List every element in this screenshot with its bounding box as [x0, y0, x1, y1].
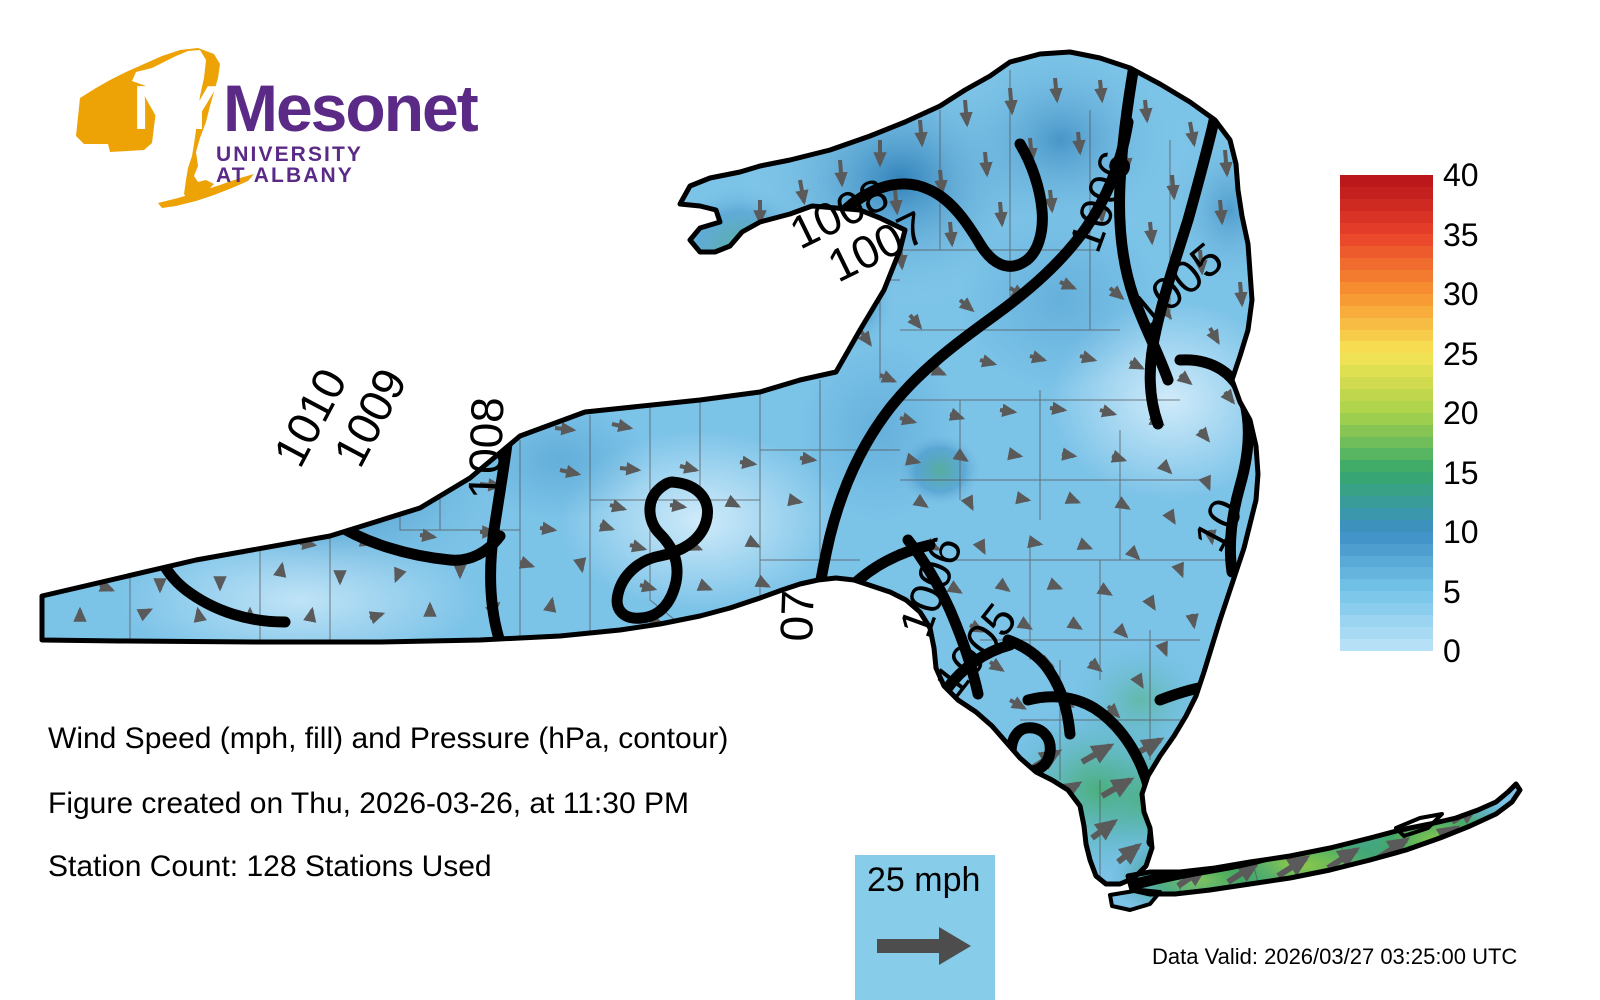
data-valid-timestamp: Data Valid: 2026/03/27 03:25:00 UTC — [1152, 944, 1517, 970]
colorbar-gradient — [1340, 175, 1433, 651]
colorbar-tick-15: 15 — [1443, 457, 1479, 489]
wind-reference-arrow-icon — [875, 923, 975, 969]
colorbar-tick-5: 5 — [1443, 576, 1461, 608]
map-title-caption: Wind Speed (mph, fill) and Pressure (hPa… — [48, 722, 728, 756]
colorbar-tick-40: 40 — [1443, 159, 1479, 191]
nys-mesonet-logo: NYS Mesonet UNIVERSITY AT ALBANY — [48, 48, 398, 223]
contour-label-1008a: 1008 — [458, 396, 514, 500]
station-count-caption: Station Count: 128 Stations Used — [48, 850, 492, 884]
colorbar-tick-10: 10 — [1443, 516, 1479, 548]
colorbar-tick-30: 30 — [1443, 278, 1479, 310]
colorbar-tick-35: 35 — [1443, 219, 1479, 251]
logo-mesonet-text: Mesonet — [223, 75, 477, 141]
wind-reference-legend: 25 mph — [855, 855, 995, 1000]
colorbar-tick-0: 0 — [1443, 635, 1461, 667]
figure-created-caption: Figure created on Thu, 2026-03-26, at 11… — [48, 787, 689, 821]
contour-label-1007b: 07 — [770, 589, 824, 642]
wind-reference-label: 25 mph — [867, 861, 980, 900]
logo-subtitle-text: UNIVERSITY AT ALBANY — [216, 144, 398, 186]
colorbar-tick-20: 20 — [1443, 397, 1479, 429]
colorbar-tick-25: 25 — [1443, 338, 1479, 370]
windspeed-colorbar — [1340, 175, 1433, 651]
